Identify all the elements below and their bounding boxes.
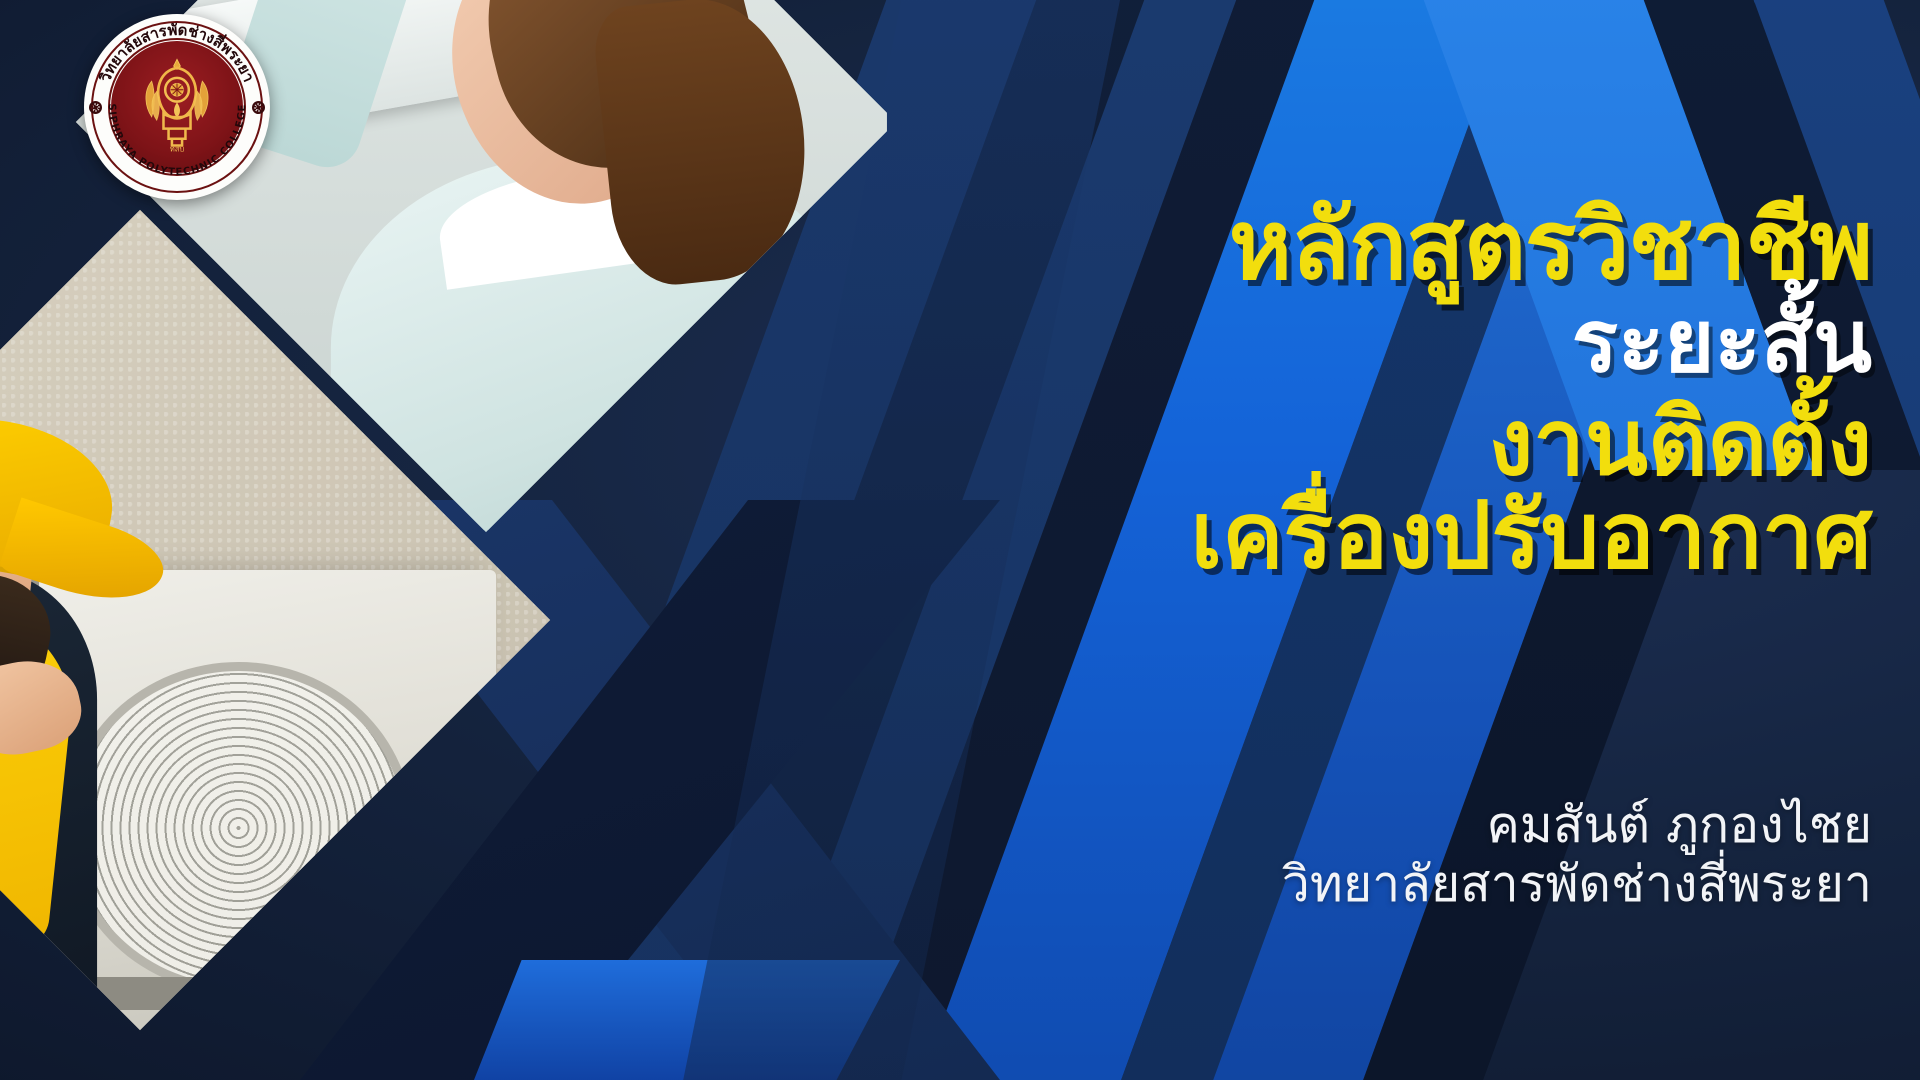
banner-canvas: ทสบ วิทยาลัยสารพัดช่างสี่พระยา SIPHRAYA … [0,0,1920,1080]
seal-thai-text: วิทยาลัยสารพัดช่างสี่พระยา [96,21,258,85]
college-seal-logo: ทสบ วิทยาลัยสารพัดช่างสี่พระยา SIPHRAYA … [84,14,270,200]
seal-circular-text: วิทยาลัยสารพัดช่างสี่พระยา SIPHRAYA POLY… [84,14,270,200]
seal-english-text: SIPHRAYA POLYTECHNIC COLLEGE [106,103,248,178]
